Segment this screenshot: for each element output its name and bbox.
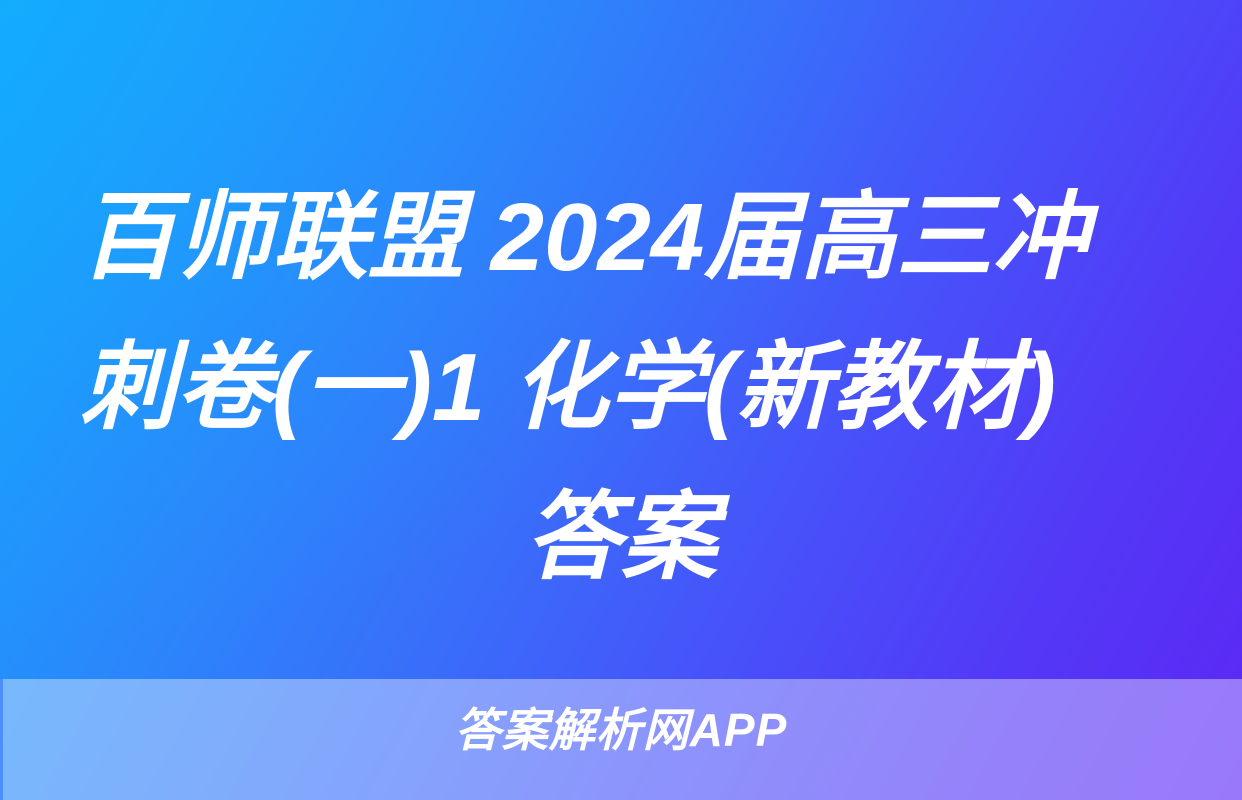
poster-canvas: 百师联盟 2024届高三冲 刺卷(一)1 化学(新教材) 答案 答案解析网APP: [0, 0, 1242, 800]
footer-left-edge: [0, 679, 3, 800]
app-brand-watermark: 答案解析网APP: [0, 700, 1242, 760]
title-line-3: 答案: [0, 463, 1242, 613]
title-line-2: 刺卷(一)1 化学(新教材): [80, 313, 1056, 463]
title-line-1: 百师联盟 2024届高三冲: [80, 163, 1088, 313]
